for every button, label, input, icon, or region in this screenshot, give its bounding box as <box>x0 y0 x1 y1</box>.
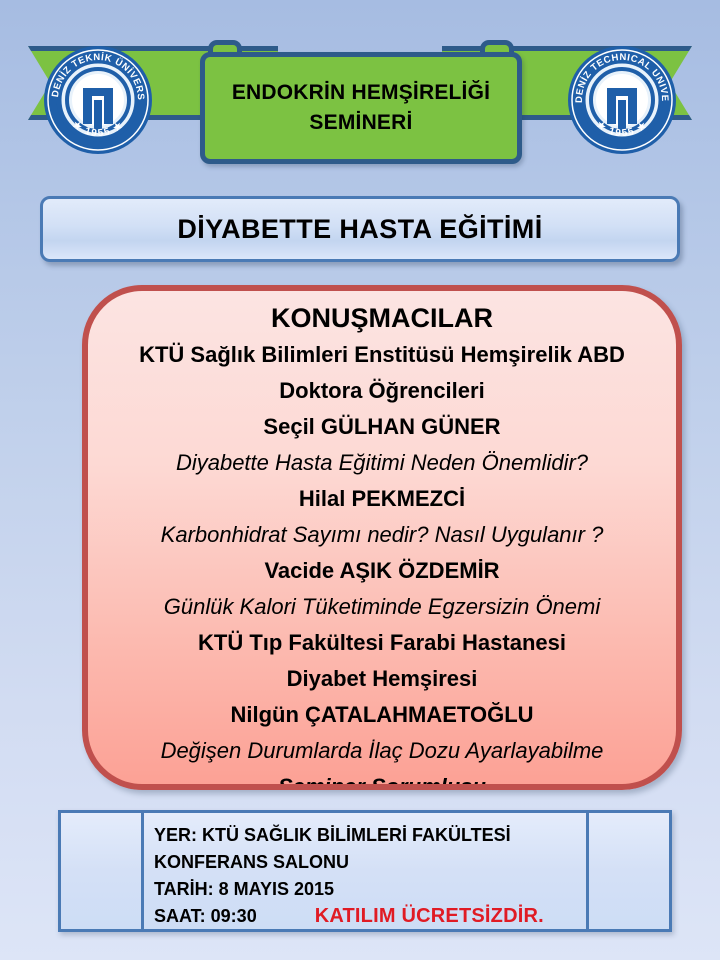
event-info-left-cell <box>61 813 141 929</box>
speaker-line: Hilal PEKMEZCİ <box>102 481 662 517</box>
speaker-line: Seçil GÜLHAN GÜNER <box>102 409 662 445</box>
venue-line-2: KONFERANS SALONU <box>154 849 586 876</box>
poster-title-box: DİYABETTE HASTA EĞİTİMİ <box>40 196 680 262</box>
speaker-line: Diyabette Hasta Eğitimi Neden Önemlidir? <box>102 445 662 481</box>
speaker-line: Diyabet Hemşiresi <box>102 661 662 697</box>
free-admission-note: KATILIM ÜCRETSİZDİR. <box>315 905 544 928</box>
speakers-list: KONUŞMACILARKTÜ Sağlık Bilimleri Enstitü… <box>102 299 662 790</box>
ktu-logo-english-icon: KARADENİZ TECHNICAL UNIVERSITY ★ 1955 ★ <box>566 44 678 156</box>
ktu-logo-turkish-icon: KARADENİZ TEKNİK ÜNİVERSİTESİ ★ 1955 ★ <box>42 44 154 156</box>
seminar-banner-line2: SEMİNERİ <box>232 108 490 138</box>
speaker-line: KTÜ Tıp Fakültesi Farabi Hastanesi <box>102 625 662 661</box>
speaker-line: Günlük Kalori Tüketiminde Egzersizin Öne… <box>102 589 662 625</box>
speaker-line: KTÜ Sağlık Bilimleri Enstitüsü Hemşireli… <box>102 337 662 373</box>
speaker-line: Değişen Durumlarda İlaç Dozu Ayarlayabil… <box>102 733 662 769</box>
event-date: TARİH: 8 MAYIS 2015 <box>154 876 586 903</box>
seminar-banner-text: ENDOKRİN HEMŞİRELİĞİ SEMİNERİ <box>226 78 496 138</box>
seminar-banner: ENDOKRİN HEMŞİRELİĞİ SEMİNERİ <box>200 52 522 164</box>
speaker-line: Seminer Sorumlusu <box>102 769 662 790</box>
venue-line-1: YER: KTÜ SAĞLIK BİLİMLERİ FAKÜLTESİ <box>154 822 586 849</box>
speaker-line: Karbonhidrat Sayımı nedir? Nasıl Uygulan… <box>102 517 662 553</box>
speaker-line: Doktora Öğrencileri <box>102 373 662 409</box>
speakers-panel: KONUŞMACILARKTÜ Sağlık Bilimleri Enstitü… <box>82 285 682 790</box>
event-time: SAAT: 09:30 <box>154 903 257 930</box>
speaker-line: Vacide AŞIK ÖZDEMİR <box>102 553 662 589</box>
ktu-logo-english: KARADENİZ TECHNICAL UNIVERSITY ★ 1955 ★ <box>566 44 678 156</box>
poster-header: ENDOKRİN HEMŞİRELİĞİ SEMİNERİ KARADENİZ … <box>0 0 720 185</box>
event-info-table: YER: KTÜ SAĞLIK BİLİMLERİ FAKÜLTESİ KONF… <box>58 810 672 932</box>
page-title: DİYABETTE HASTA EĞİTİMİ <box>177 214 542 245</box>
event-info-right-cell <box>589 813 669 929</box>
speaker-line: KONUŞMACILAR <box>102 299 662 337</box>
event-info-main-cell: YER: KTÜ SAĞLIK BİLİMLERİ FAKÜLTESİ KONF… <box>141 813 589 929</box>
time-and-free-note: SAAT: 09:30 KATILIM ÜCRETSİZDİR. <box>154 903 586 930</box>
ktu-logo-turkish: KARADENİZ TEKNİK ÜNİVERSİTESİ ★ 1955 ★ <box>42 44 154 156</box>
seminar-banner-line1: ENDOKRİN HEMŞİRELİĞİ <box>232 78 490 108</box>
speaker-line: Nilgün ÇATALAHMAETOĞLU <box>102 697 662 733</box>
